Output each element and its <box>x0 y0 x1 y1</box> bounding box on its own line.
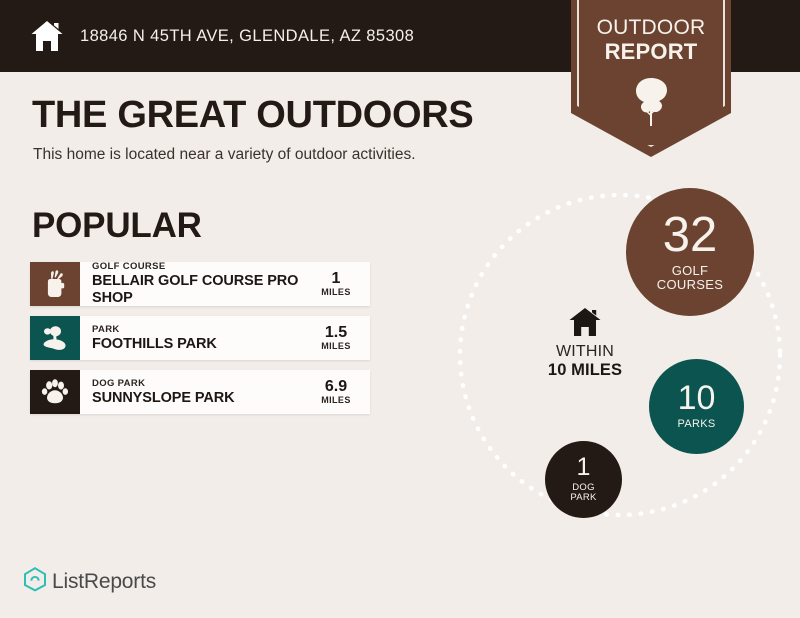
popular-list: GOLF COURSE BELLAIR GOLF COURSE PRO SHOP… <box>30 262 370 424</box>
list-reports-house-icon <box>22 566 48 597</box>
stat-label: GOLF COURSES <box>657 264 723 292</box>
page-title: THE GREAT OUTDOORS <box>32 96 473 134</box>
list-item-category: GOLF COURSE <box>92 261 308 273</box>
address-text: 18846 N 45TH AVE, GLENDALE, AZ 85308 <box>80 27 414 46</box>
badge-title-line1: OUTDOOR <box>571 17 731 40</box>
home-icon <box>30 20 64 52</box>
outdoor-report-page: 18846 N 45TH AVE, GLENDALE, AZ 85308 OUT… <box>0 0 800 618</box>
list-item-name: FOOTHILLS PARK <box>92 336 308 353</box>
stat-label-line2: COURSES <box>657 277 723 292</box>
stat-label-line1: GOLF <box>672 263 709 278</box>
list-item-distance: 1.5 MILES <box>308 316 370 360</box>
list-item-distance: 1 MILES <box>308 262 370 306</box>
list-reports-logo[interactable]: ListReports <box>22 566 156 597</box>
stat-label-line2: PARK <box>570 492 596 503</box>
list-item-category: DOG PARK <box>92 378 308 390</box>
list-item-category: PARK <box>92 324 308 336</box>
address-block: 18846 N 45TH AVE, GLENDALE, AZ 85308 <box>30 0 414 72</box>
stat-count: 32 <box>663 212 718 259</box>
stat-count: 10 <box>678 382 716 414</box>
popular-section-title: POPULAR <box>32 208 202 243</box>
outdoor-report-badge: OUTDOOR REPORT <box>571 0 731 157</box>
diagram-center-label: WITHIN 10 MILES <box>530 307 640 381</box>
page-subtitle: This home is located near a variety of o… <box>33 146 416 164</box>
stat-label: PARKS <box>678 419 716 431</box>
list-item[interactable]: GOLF COURSE BELLAIR GOLF COURSE PRO SHOP… <box>30 262 370 306</box>
stat-bubble-dog-park[interactable]: 1 DOG PARK <box>545 441 622 518</box>
distance-value: 1 <box>332 271 341 288</box>
stat-bubble-golf-courses[interactable]: 32 GOLF COURSES <box>626 188 754 316</box>
footer: ListReports 2026 ARMLS DISCLAIMER: The i… <box>0 548 800 618</box>
stat-count: 1 <box>577 456 591 480</box>
list-item[interactable]: PARK FOOTHILLS PARK 1.5 MILES <box>30 316 370 360</box>
list-item-text: GOLF COURSE BELLAIR GOLF COURSE PRO SHOP <box>80 262 308 306</box>
distance-value: 1.5 <box>325 325 347 342</box>
park-tree-icon <box>30 316 80 360</box>
paw-print-icon <box>30 370 80 414</box>
list-reports-logo-text: ListReports <box>52 570 156 594</box>
list-item[interactable]: DOG PARK SUNNYSLOPE PARK 6.9 MILES <box>30 370 370 414</box>
within-label: WITHIN <box>530 343 640 361</box>
distance-value: 6.9 <box>325 379 347 396</box>
list-item-name: SUNNYSLOPE PARK <box>92 390 308 407</box>
distance-unit: MILES <box>321 341 351 351</box>
badge-title-line2: REPORT <box>571 40 731 64</box>
stat-bubble-parks[interactable]: 10 PARKS <box>649 359 744 454</box>
list-item-distance: 6.9 MILES <box>308 370 370 414</box>
golf-bag-icon <box>30 262 80 306</box>
list-item-text: PARK FOOTHILLS PARK <box>80 316 308 360</box>
distance-unit: MILES <box>321 287 351 297</box>
amenities-diagram: 32 GOLF COURSES 10 PARKS 1 DOG PARK WITH <box>430 175 800 555</box>
home-icon <box>530 307 640 337</box>
badge-title: OUTDOOR REPORT <box>571 17 731 63</box>
list-item-name: BELLAIR GOLF COURSE PRO SHOP <box>92 273 308 306</box>
distance-unit: MILES <box>321 395 351 405</box>
radius-label: 10 MILES <box>530 361 640 381</box>
list-item-text: DOG PARK SUNNYSLOPE PARK <box>80 370 308 414</box>
stat-label: DOG PARK <box>570 483 596 504</box>
